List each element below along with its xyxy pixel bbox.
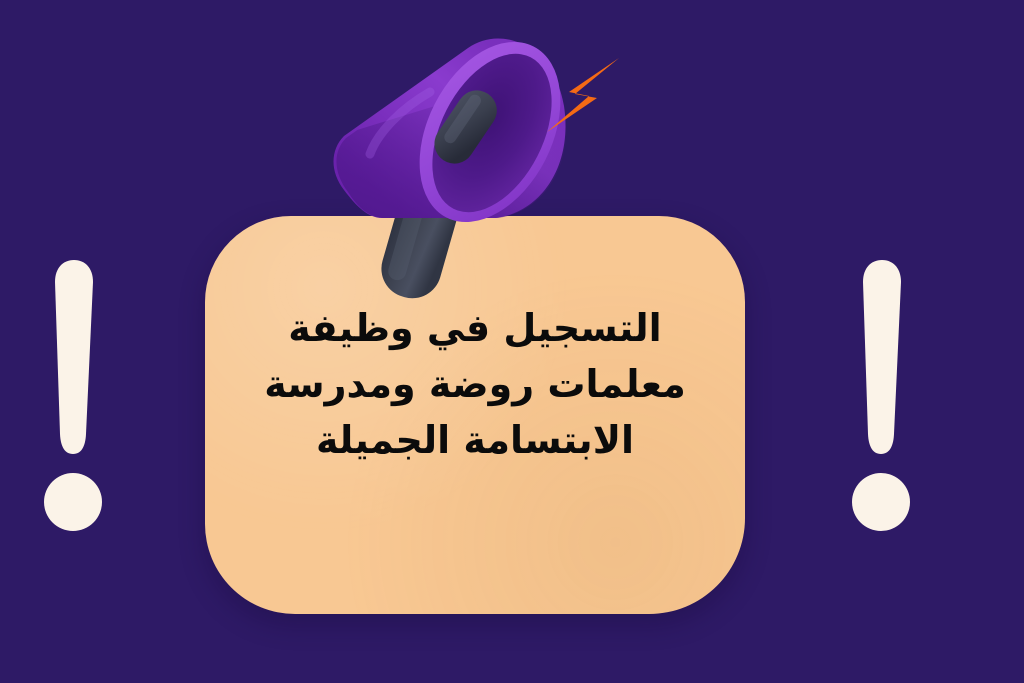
- announcement-poster: التسجيل في وظيفة معلمات روضة ومدرسة الاب…: [0, 0, 1024, 683]
- lightning-bolt-icon: [539, 52, 625, 138]
- headline-line-2: معلمات روضة ومدرسة: [215, 356, 735, 412]
- exclamation-mark-icon-left: [44, 258, 108, 536]
- headline-line-1: التسجيل في وظيفة: [215, 300, 735, 356]
- page-title: التسجيل في وظيفة معلمات روضة ومدرسة الاب…: [215, 300, 735, 468]
- exclamation-mark-icon-right: [852, 258, 916, 536]
- headline-line-3: الابتسامة الجميلة: [215, 412, 735, 468]
